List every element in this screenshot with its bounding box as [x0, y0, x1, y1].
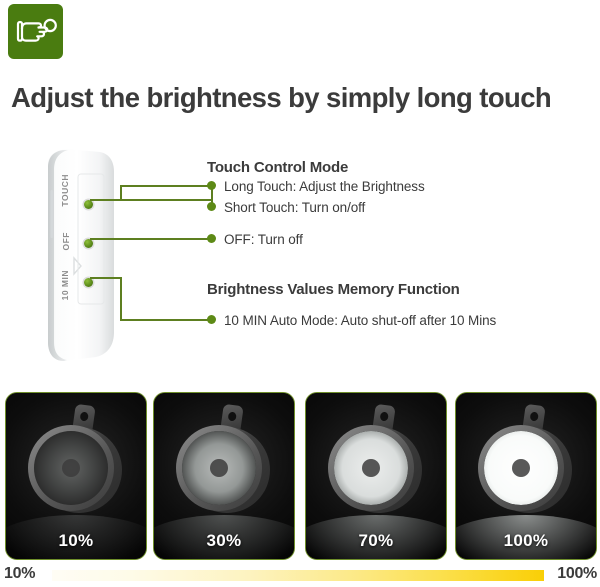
- connector-10min-horizontal: [90, 277, 121, 279]
- puck-lens: [182, 431, 256, 505]
- connector-touch-upper: [120, 185, 213, 187]
- device-label-10min: 10 MIN: [60, 270, 70, 300]
- puck-lens: [334, 431, 408, 505]
- brightness-scale: 10% 100%: [0, 562, 600, 587]
- info-item-short-touch: Short Touch: Turn on/off: [224, 200, 365, 215]
- device-dot-off: [84, 239, 93, 248]
- brightness-percent-label: 70%: [306, 531, 446, 551]
- puck-hub: [210, 459, 228, 477]
- brightness-card-10: 10%: [5, 392, 147, 560]
- brightness-percent-label: 10%: [6, 531, 146, 551]
- bullet-short-touch: [207, 202, 216, 211]
- puck-face: [478, 425, 564, 511]
- device-body: [34, 146, 130, 366]
- bullet-long-touch: [207, 181, 216, 190]
- brightness-card-30: 30%: [153, 392, 295, 560]
- bullet-10min-auto: [207, 315, 216, 324]
- puck-face: [28, 425, 114, 511]
- info-heading-brightness-memory: Brightness Values Memory Function: [207, 281, 460, 298]
- brightness-card-70: 70%: [305, 392, 447, 560]
- puck-face: [328, 425, 414, 511]
- puck-lens: [34, 431, 108, 505]
- puck-light: [478, 421, 574, 517]
- brightness-percent-label: 30%: [154, 531, 294, 551]
- device-label-off: OFF: [61, 232, 71, 251]
- info-item-off: OFF: Turn off: [224, 232, 303, 247]
- puck-hub: [512, 459, 530, 477]
- connector-touch-horizontal: [90, 199, 121, 201]
- device-dot-10min: [84, 278, 93, 287]
- info-item-long-touch: Long Touch: Adjust the Brightness: [224, 179, 425, 194]
- scale-gradient-bar: [52, 570, 544, 581]
- brightness-percent-label: 100%: [456, 531, 596, 551]
- connector-touch-branch-lower: [120, 199, 213, 201]
- connector-off-line: [90, 238, 212, 240]
- touch-hand-icon-badge: [8, 4, 63, 59]
- touch-hand-icon: [8, 4, 63, 59]
- puck-hub: [362, 459, 380, 477]
- device-label-touch: TOUCH: [60, 174, 70, 207]
- connector-10min-lower: [120, 319, 213, 321]
- bullet-off: [207, 234, 216, 243]
- puck-light: [328, 421, 424, 517]
- info-heading-touch-control-mode: Touch Control Mode: [207, 159, 348, 176]
- device-dot-touch: [84, 200, 93, 209]
- device-illustration: TOUCH OFF 10 MIN: [34, 146, 130, 366]
- puck-light: [176, 421, 272, 517]
- connector-10min-vertical: [120, 277, 122, 321]
- puck-hub: [62, 459, 80, 477]
- scale-min-label: 10%: [4, 565, 35, 583]
- device-diagram: TOUCH OFF 10 MIN Touch Control Mode Long…: [0, 138, 600, 383]
- info-item-10min-auto-mode: 10 MIN Auto Mode: Auto shut-off after 10…: [224, 313, 496, 328]
- brightness-card-100: 100%: [455, 392, 597, 560]
- puck-light: [28, 421, 124, 517]
- puck-face: [176, 425, 262, 511]
- scale-max-label: 100%: [557, 565, 597, 583]
- brightness-gallery: 10% 30%: [0, 392, 600, 560]
- puck-lens: [484, 431, 558, 505]
- page-title: Adjust the brightness by simply long tou…: [11, 82, 593, 114]
